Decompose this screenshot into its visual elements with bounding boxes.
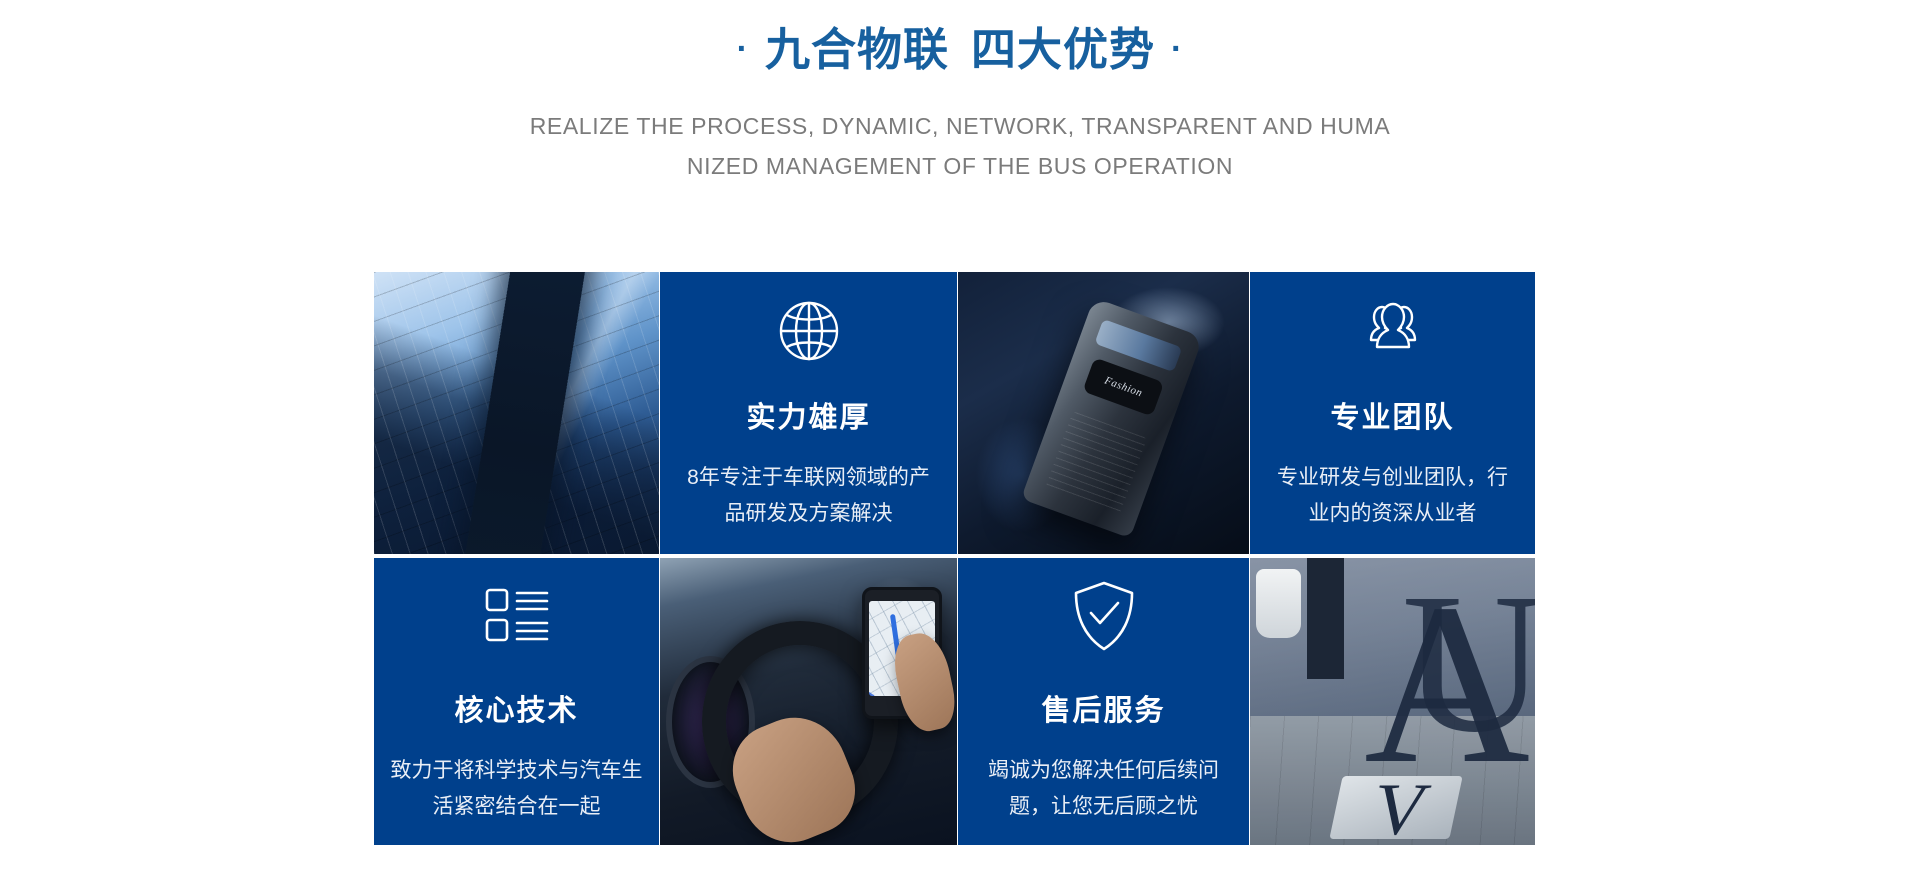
- letter-u-sculpture: U: [1402, 564, 1535, 764]
- car-device-photo: Fashion: [958, 272, 1249, 554]
- advantage-desc-team-line1: 专业研发与创业团队，行: [1277, 460, 1508, 496]
- advantage-desc-strength: 8年专注于车联网领域的产 品研发及方案解决: [687, 460, 930, 532]
- glass-skyscrapers-image: [374, 272, 659, 554]
- decorative-vase: [1256, 569, 1302, 638]
- shield-check-icon: [1067, 579, 1141, 653]
- mirror-panel: [1329, 776, 1462, 839]
- advantage-desc-after-sales: 竭诚为您解决任何后续问 题，让您无后顾之忧: [988, 753, 1219, 825]
- letter-a-interior-image: A U: [1250, 558, 1535, 845]
- section-subtitle-line2: NIZED MANAGEMENT OF THE BUS OPERATION: [0, 146, 1920, 186]
- device-brand-text: Fashion: [1103, 375, 1144, 400]
- advantage-desc-team-line2: 业内的资深从业者: [1277, 496, 1508, 532]
- device-body: Fashion: [1021, 298, 1204, 539]
- advantage-card-after-sales[interactable]: 售后服务 竭诚为您解决任何后续问 题，让您无后顾之忧: [958, 558, 1249, 845]
- bullet-right-icon: ·: [1155, 30, 1199, 68]
- team-people-icon: [1356, 294, 1430, 368]
- page-title: ·九合物联四大优势·: [0, 22, 1920, 78]
- advantage-desc-strength-line2: 品研发及方案解决: [687, 496, 930, 532]
- advantage-title-after-sales: 售后服务: [1041, 687, 1165, 729]
- advantage-title-strength: 实力雄厚: [746, 394, 870, 436]
- advantage-desc-core-tech: 致力于将科学技术与汽车生 活紧密结合在一起: [391, 753, 643, 825]
- bullet-left-icon: ·: [721, 30, 765, 68]
- advantage-desc-strength-line1: 8年专注于车联网领域的产: [687, 460, 930, 496]
- advantage-desc-after-sales-line1: 竭诚为您解决任何后续问: [988, 753, 1219, 789]
- letter-a-interior-photo: A U: [1250, 558, 1535, 845]
- list-blocks-icon: [480, 579, 554, 653]
- advantage-desc-core-tech-line2: 活紧密结合在一起: [391, 789, 643, 825]
- glass-skyscrapers-photo: [374, 272, 659, 554]
- page-title-part1: 九合物联: [765, 24, 949, 75]
- advantage-desc-core-tech-line1: 致力于将科学技术与汽车生: [391, 753, 643, 789]
- device-brand-label: Fashion: [1082, 358, 1164, 418]
- section-subtitle-line1: REALIZE THE PROCESS, DYNAMIC, NETWORK, T…: [0, 106, 1920, 146]
- dark-shelf: [1307, 558, 1344, 679]
- section-header: ·九合物联四大优势· REALIZE THE PROCESS, DYNAMIC,…: [0, 0, 1920, 186]
- advantages-grid: 实力雄厚 8年专注于车联网领域的产 品研发及方案解决 Fashion: [374, 272, 1575, 845]
- car-device-image: Fashion: [958, 272, 1249, 554]
- advantage-desc-after-sales-line2: 题，让您无后顾之忧: [988, 789, 1219, 825]
- advantage-desc-team: 专业研发与创业团队，行 业内的资深从业者: [1277, 460, 1508, 532]
- advantages-section: ·九合物联四大优势· REALIZE THE PROCESS, DYNAMIC,…: [0, 0, 1920, 894]
- driver-navigation-photo: [660, 558, 957, 845]
- globe-icon: [772, 294, 846, 368]
- advantage-card-core-tech[interactable]: 核心技术 致力于将科学技术与汽车生 活紧密结合在一起: [374, 558, 659, 845]
- advantage-title-team: 专业团队: [1330, 394, 1454, 436]
- advantage-card-team[interactable]: 专业团队 专业研发与创业团队，行 业内的资深从业者: [1250, 272, 1535, 554]
- advantage-title-core-tech: 核心技术: [454, 687, 578, 729]
- page-title-part2: 四大优势: [971, 24, 1155, 75]
- advantage-card-strength[interactable]: 实力雄厚 8年专注于车联网领域的产 品研发及方案解决: [660, 272, 957, 554]
- driver-navigation-image: [660, 558, 957, 845]
- section-subtitle: REALIZE THE PROCESS, DYNAMIC, NETWORK, T…: [0, 106, 1920, 186]
